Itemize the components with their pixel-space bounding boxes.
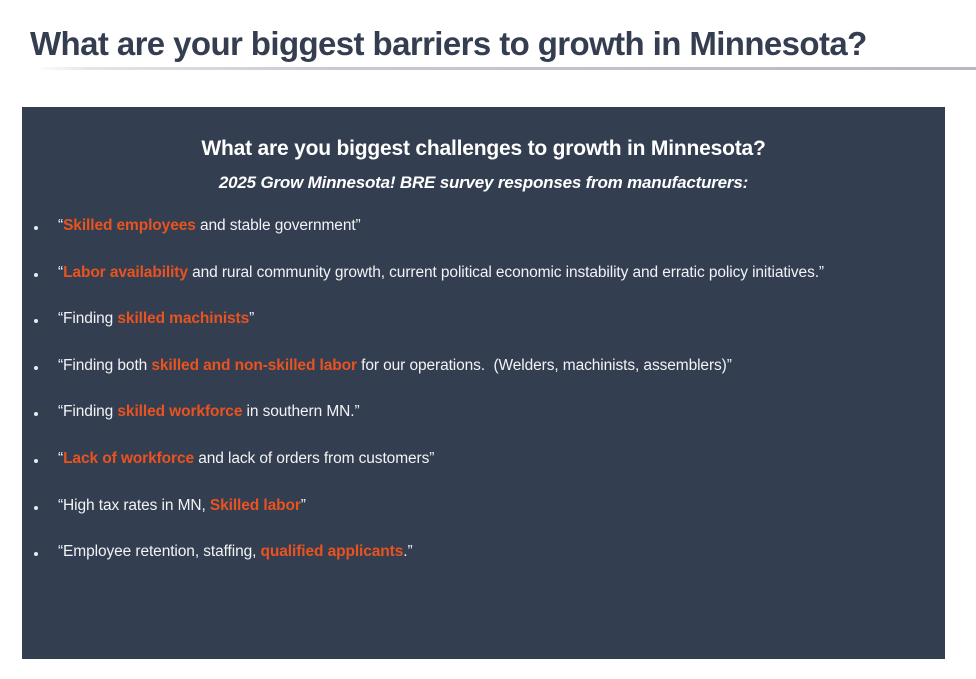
plain-phrase: “Finding (58, 403, 117, 420)
bullet-dot-icon (34, 506, 38, 510)
highlighted-phrase: skilled machinists (117, 310, 249, 327)
highlighted-phrase: Skilled labor (210, 497, 301, 514)
list-item-text: “Employee retention, staffing, qualified… (58, 543, 413, 560)
highlighted-phrase: skilled workforce (117, 403, 242, 420)
content-panel: What are you biggest challenges to growt… (22, 107, 945, 659)
list-item-text: “Finding skilled machinists” (58, 310, 254, 327)
highlighted-phrase: Labor availability (63, 264, 188, 281)
bullet-dot-icon (34, 552, 38, 556)
list-item: “Labor availability and rural community … (22, 264, 945, 311)
plain-phrase: for our operations. (Welders, machinists… (357, 357, 732, 374)
list-item-text: “High tax rates in MN, Skilled labor” (58, 497, 306, 514)
list-item-text: “Lack of workforce and lack of orders fr… (58, 450, 434, 467)
bullet-dot-icon (34, 366, 38, 370)
plain-phrase: “High tax rates in MN, (58, 497, 210, 514)
list-item-text: “Finding both skilled and non-skilled la… (58, 357, 732, 374)
panel-heading: What are you biggest challenges to growt… (22, 136, 945, 162)
list-item-text: “Finding skilled workforce in southern M… (58, 403, 360, 420)
title-divider (0, 67, 976, 70)
list-item: “Finding both skilled and non-skilled la… (22, 357, 945, 404)
highlighted-phrase: Skilled employees (63, 217, 196, 234)
bullet-dot-icon (34, 226, 38, 230)
plain-phrase: and lack of orders from customers” (194, 450, 434, 467)
plain-phrase: ” (301, 497, 306, 514)
list-item: “Lack of workforce and lack of orders fr… (22, 450, 945, 497)
list-item: “High tax rates in MN, Skilled labor” (22, 497, 945, 544)
plain-phrase: “Finding (58, 310, 117, 327)
list-item: “Employee retention, staffing, qualified… (22, 543, 945, 590)
bullet-dot-icon (34, 459, 38, 463)
list-item: “Finding skilled workforce in southern M… (22, 403, 945, 450)
list-item-text: “Labor availability and rural community … (58, 264, 824, 281)
plain-phrase: “Employee retention, staffing, (58, 543, 261, 560)
bullet-dot-icon (34, 412, 38, 416)
list-item-text: “Skilled employees and stable government… (58, 217, 361, 234)
list-item: “Finding skilled machinists” (22, 310, 945, 357)
plain-phrase: .” (403, 543, 412, 560)
page-title: What are your biggest barriers to growth… (30, 24, 946, 64)
survey-response-list: “Skilled employees and stable government… (22, 217, 945, 590)
bullet-dot-icon (34, 319, 38, 323)
highlighted-phrase: skilled and non-skilled labor (151, 357, 357, 374)
plain-phrase: ” (249, 310, 254, 327)
list-item: “Skilled employees and stable government… (22, 217, 945, 264)
plain-phrase: in southern MN.” (242, 403, 359, 420)
plain-phrase: and stable government” (196, 217, 361, 234)
plain-phrase: and rural community growth, current poli… (188, 264, 824, 281)
panel-subheading: 2025 Grow Minnesota! BRE survey response… (22, 171, 945, 195)
bullet-dot-icon (34, 273, 38, 277)
highlighted-phrase: Lack of workforce (63, 450, 194, 467)
plain-phrase: “Finding both (58, 357, 151, 374)
highlighted-phrase: qualified applicants (261, 543, 404, 560)
